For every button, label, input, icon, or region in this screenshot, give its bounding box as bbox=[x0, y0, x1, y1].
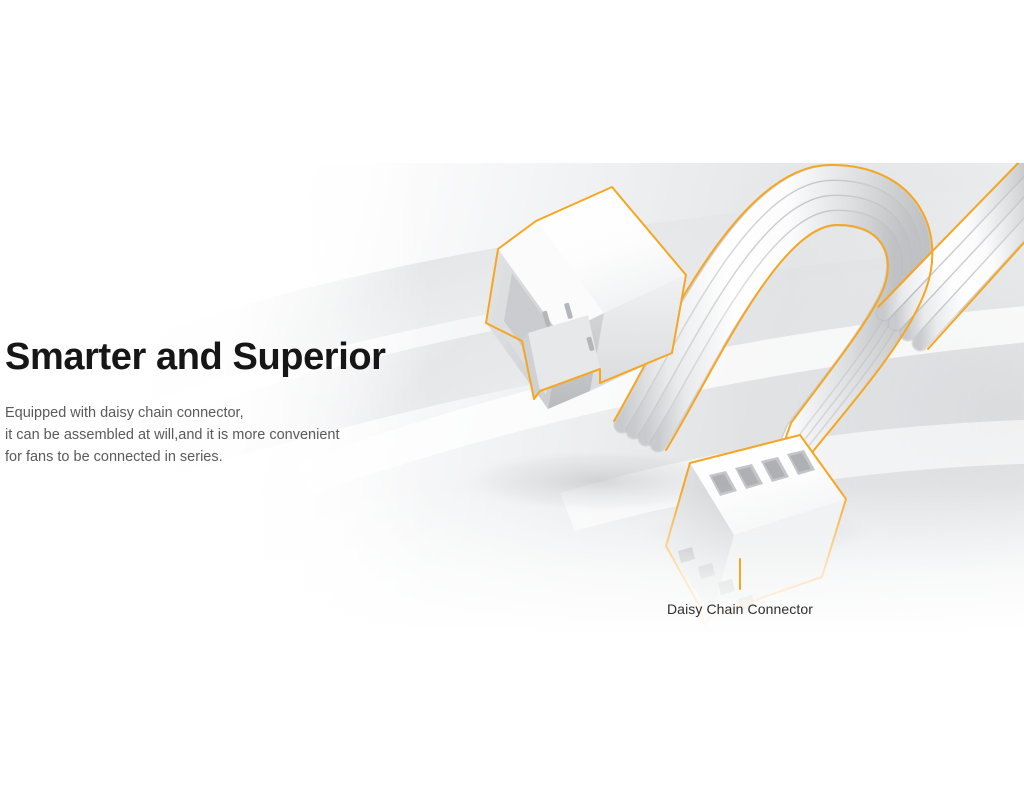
callout-leader-line bbox=[739, 558, 741, 590]
description-line-2: it can be assembled at will,and it is mo… bbox=[5, 424, 425, 446]
description-line-3: for fans to be connected in series. bbox=[5, 446, 425, 468]
callout: Daisy Chain Connector bbox=[575, 558, 905, 618]
page-title: Smarter and Superior bbox=[5, 334, 425, 380]
copy-block: Smarter and Superior Equipped with daisy… bbox=[5, 334, 425, 468]
description-line-1: Equipped with daisy chain connector, bbox=[5, 402, 425, 424]
callout-label: Daisy Chain Connector bbox=[575, 600, 905, 618]
description: Equipped with daisy chain connector, it … bbox=[5, 402, 425, 468]
product-feature-banner: Smarter and Superior Equipped with daisy… bbox=[0, 0, 1024, 800]
